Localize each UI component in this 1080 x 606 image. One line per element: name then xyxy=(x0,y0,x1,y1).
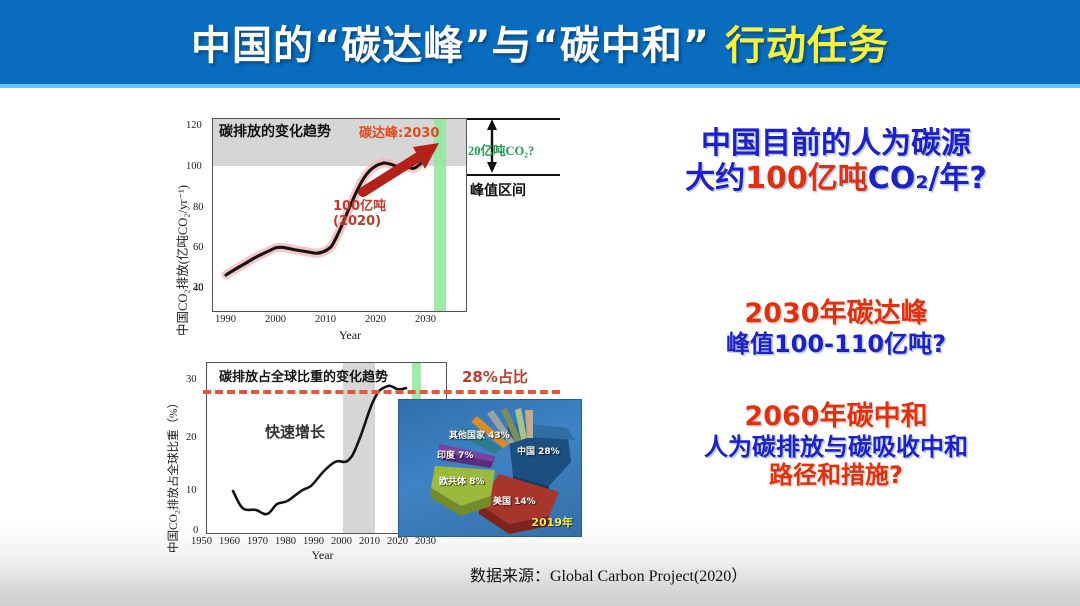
chart-top-plot-area: 碳排放的变化趋势 碳达峰:2030 100亿吨 (2020) xyxy=(212,118,467,312)
page-title-yellow: 行动任务 xyxy=(725,23,889,69)
carbon-source-suffix: CO₂/年? xyxy=(868,161,987,196)
neutral-2060-line3: 路径和措施? xyxy=(596,461,1076,489)
peak-2030-line1: 2030年碳达峰 xyxy=(596,298,1076,330)
chart-bottom-ytick-30: 30 xyxy=(186,374,197,385)
chart-top-value-label-1: 100亿吨 xyxy=(333,195,386,214)
page-title-white: 中国的“碳达峰”与“碳中和” xyxy=(191,23,710,69)
chart-top-xtick-2000: 2000 xyxy=(265,314,286,325)
carbon-source-prefix: 大约 xyxy=(685,161,745,196)
chart-bottom-ytick-0: 0 xyxy=(193,525,198,536)
chart-top-xlabel: Year xyxy=(150,328,550,343)
chart-bottom-title: 碳排放占全球比重的变化趋势 xyxy=(219,366,388,385)
chart-top-title: 碳排放的变化趋势 xyxy=(219,121,331,141)
chart-bottom-xtick-1950: 1950 xyxy=(191,536,212,547)
pie-year-label: 2019年 xyxy=(531,514,573,530)
chart-bottom-xtick-2010: 2010 xyxy=(359,536,380,547)
chart-top-ytick-60: 60 xyxy=(193,242,204,253)
chart-top-xtick-2030: 2030 xyxy=(415,314,436,325)
chart-top-bracket-value: 20亿吨CO₂? xyxy=(468,140,534,159)
chart-top-xtick-2020: 2020 xyxy=(365,314,386,325)
neutral-2060-line2: 人为碳排放与碳吸收中和 xyxy=(596,433,1076,461)
chart-top-ytick-80: 80 xyxy=(193,202,204,213)
chart-bottom-xtick-1980: 1980 xyxy=(275,536,296,547)
chart-bottom-share-label: 28%占比 xyxy=(462,366,528,387)
chart-bottom-growth-label: 快速增长 xyxy=(265,421,325,442)
page-title: 中国的“碳达峰”与“碳中和” 行动任务 xyxy=(191,13,889,71)
chart-top-ylabel: 中国CO₂排放(亿吨CO₂/yr⁻¹) xyxy=(172,185,191,336)
chart-bottom-xtick-1990: 1990 xyxy=(303,536,324,547)
chart-bottom-threshold-line xyxy=(203,390,560,394)
chart-top-xtick-2010: 2010 xyxy=(315,314,336,325)
right-block-peak-2030: 2030年碳达峰 峰值100-110亿吨? xyxy=(596,298,1076,358)
chart-bottom-xtick-1960: 1960 xyxy=(219,536,240,547)
peak-2030-line2: 峰值100-110亿吨? xyxy=(596,330,1076,358)
pie-label-others: 其他国家 43% xyxy=(449,428,510,441)
pie-label-eu: 欧共体 8% xyxy=(439,474,484,487)
data-source-note: 数据来源：Global Carbon Project(2020） xyxy=(470,562,747,586)
pie-label-china: 中国 28% xyxy=(517,444,560,457)
slide-canvas: 中国的“碳达峰”与“碳中和” 行动任务 中国CO₂排放(亿吨CO₂/yr⁻¹) … xyxy=(0,0,1080,606)
chart-top-ytick-100: 100 xyxy=(186,161,202,172)
chart-bottom-xtick-2020: 2020 xyxy=(387,536,408,547)
chart-bottom-ytick-20: 20 xyxy=(186,432,197,443)
carbon-source-line1: 中国目前的人为碳源 xyxy=(596,126,1076,161)
chart-bottom-xtick-1970: 1970 xyxy=(247,536,268,547)
pie-label-usa: 美国 14% xyxy=(493,494,536,507)
carbon-source-line2: 大约100亿吨CO₂/年? xyxy=(596,161,1076,196)
chart-top-value-label-2: (2020) xyxy=(333,214,381,229)
chart-top-xtick-1990: 1990 xyxy=(215,314,236,325)
chart-bottom-xtick-2030: 2030 xyxy=(415,536,436,547)
pie-chart-inset: 中国 28% 美国 14% 欧共体 8% 印度 7% 其他国家 43% 2019… xyxy=(398,399,582,537)
chart-bottom-ylabel: 中国CO₂排放占全球比重（%） xyxy=(165,397,181,553)
pie-label-india: 印度 7% xyxy=(437,448,473,461)
chart-top-peak-label: 碳达峰:2030 xyxy=(359,122,439,141)
right-block-carbon-source: 中国目前的人为碳源 大约100亿吨CO₂/年? xyxy=(596,126,1076,197)
chart-top-ytick-20: 20 xyxy=(193,282,204,293)
carbon-source-highlight: 100亿吨 xyxy=(745,161,868,196)
chart-bottom-xtick-2000: 2000 xyxy=(331,536,352,547)
right-block-neutral-2060: 2060年碳中和 人为碳排放与碳吸收中和 路径和措施? xyxy=(596,401,1076,489)
slide-header: 中国的“碳达峰”与“碳中和” 行动任务 xyxy=(0,0,1080,88)
chart-top-bracket-vline xyxy=(466,118,467,310)
chart-top-ytick-120: 120 xyxy=(186,120,202,131)
neutral-2060-line1: 2060年碳中和 xyxy=(596,401,1076,433)
chart-bottom-ytick-10: 10 xyxy=(186,485,197,496)
chart-emissions-trend: 中国CO₂排放(亿吨CO₂/yr⁻¹) 120 100 80 60 40 20 xyxy=(160,108,560,340)
chart-bottom-xlabel: Year xyxy=(120,548,525,563)
chart-top-bracket: 20亿吨CO₂? 峰值区间 xyxy=(466,118,560,204)
chart-top-bracket-caption: 峰值区间 xyxy=(470,180,526,200)
